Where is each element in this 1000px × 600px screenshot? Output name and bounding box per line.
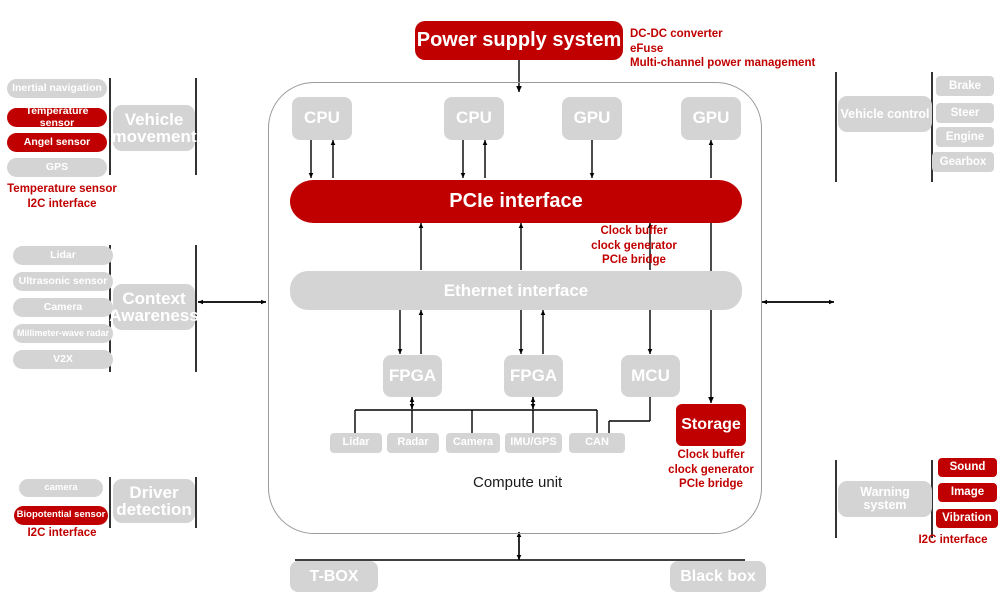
sensor-camera[interactable]: Camera	[13, 298, 113, 317]
diagram-canvas: Power supply system DC-DC converter eFus…	[0, 0, 1000, 600]
group-vehicle-movement[interactable]: Vehicle movement	[113, 105, 195, 151]
actuator-brake[interactable]: Brake	[936, 76, 994, 96]
sensor-angel-sensor[interactable]: Angel sensor	[7, 133, 107, 152]
io-port-imu-gps[interactable]: IMU/GPS	[505, 433, 562, 453]
node-black-box[interactable]: Black box	[670, 561, 766, 592]
pcie-bridge-caption: Clock buffer clock generator PCIe bridge	[545, 224, 723, 268]
io-port-camera[interactable]: Camera	[446, 433, 500, 453]
power-supply-caption: DC-DC converter eFuse Multi-channel powe…	[630, 27, 880, 71]
sensor-biopotential-sensor[interactable]: Biopotential sensor	[14, 506, 108, 525]
sensor-gps[interactable]: GPS	[7, 158, 107, 177]
compute-mcu[interactable]: MCU	[621, 355, 680, 397]
compute-cpu-1[interactable]: CPU	[292, 97, 352, 140]
pcie-interface-bar[interactable]: PCIe interface	[290, 180, 742, 223]
sensor-lidar[interactable]: Lidar	[13, 246, 113, 265]
sensor-temperature-sensor[interactable]: Temperature sensor	[7, 108, 107, 127]
sensor-v2x[interactable]: V2X	[13, 350, 113, 369]
io-port-radar[interactable]: Radar	[387, 433, 439, 453]
sensor-millimeter-wave-radar[interactable]: Millimeter-wave radar	[13, 324, 113, 343]
storage-caption: Clock buffer clock generator PCIe bridge	[651, 448, 771, 492]
actuator-engine[interactable]: Engine	[936, 127, 994, 147]
compute-gpu-1[interactable]: GPU	[562, 97, 622, 140]
sensor-inertial-navigation[interactable]: Inertial navigation	[7, 79, 107, 98]
node-t-box[interactable]: T-BOX	[290, 561, 378, 592]
actuator-steer[interactable]: Steer	[936, 103, 994, 123]
compute-unit-label: Compute unit	[473, 474, 562, 491]
vehicle-movement-caption: Temperature sensor I2C interface	[1, 182, 123, 211]
warning-output-image[interactable]: Image	[938, 483, 997, 502]
group-context-awareness[interactable]: Context Awareness	[113, 284, 195, 330]
io-port-can[interactable]: CAN	[569, 433, 625, 453]
io-port-lidar[interactable]: Lidar	[330, 433, 382, 453]
compute-gpu-2[interactable]: GPU	[681, 97, 741, 140]
compute-fpga-2[interactable]: FPGA	[504, 355, 563, 397]
group-driver-detection[interactable]: Driver detection	[113, 479, 195, 523]
compute-cpu-2[interactable]: CPU	[444, 97, 504, 140]
warning-output-sound[interactable]: Sound	[938, 458, 997, 477]
sensor-driver-camera[interactable]: camera	[19, 479, 103, 497]
warning-system-caption: I2C interface	[907, 533, 999, 548]
compute-fpga-1[interactable]: FPGA	[383, 355, 442, 397]
group-warning-system[interactable]: Warning system	[838, 481, 932, 517]
warning-output-vibration[interactable]: Vibration	[936, 509, 998, 528]
actuator-gearbox[interactable]: Gearbox	[932, 152, 994, 172]
sensor-ultrasonic-sensor[interactable]: Ultrasonic sensor	[13, 272, 113, 291]
ethernet-interface-bar[interactable]: Ethernet interface	[290, 271, 742, 310]
power-supply-system-block[interactable]: Power supply system	[415, 21, 623, 60]
driver-detection-caption: I2C interface	[1, 526, 123, 541]
storage-block[interactable]: Storage	[676, 404, 746, 446]
group-vehicle-control[interactable]: Vehicle control	[838, 96, 932, 132]
